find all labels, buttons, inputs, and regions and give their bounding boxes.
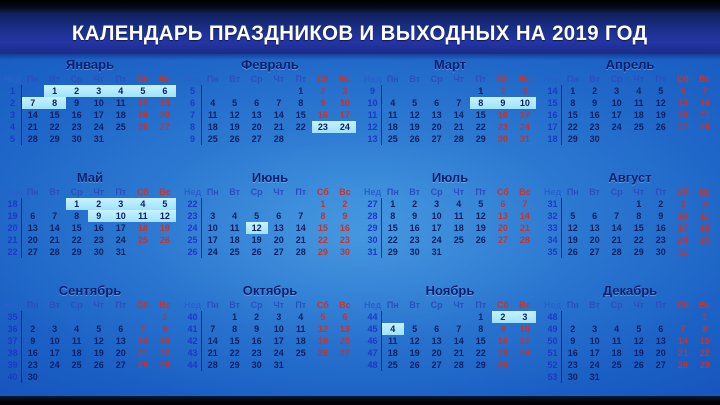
day-cell[interactable]: 14 — [290, 222, 312, 234]
day-cell[interactable]: 6 — [584, 210, 606, 222]
day-cell[interactable]: 12 — [404, 335, 426, 347]
day-cell[interactable]: 19 — [562, 234, 584, 246]
day-cell[interactable]: 6 — [246, 97, 268, 109]
day-cell[interactable]: 27 — [154, 121, 176, 133]
day-cell[interactable]: 21 — [44, 234, 66, 246]
day-cell[interactable]: 27 — [672, 121, 694, 133]
day-cell[interactable]: 26 — [312, 347, 334, 359]
day-cell[interactable]: 30 — [334, 246, 356, 258]
day-cell[interactable]: 29 — [44, 133, 66, 145]
day-cell[interactable]: 25 — [132, 234, 154, 246]
day-cell[interactable]: 10 — [426, 210, 448, 222]
day-cell[interactable]: 3 — [426, 198, 448, 210]
day-cell[interactable]: 21 — [132, 347, 154, 359]
day-cell[interactable]: 2 — [584, 85, 606, 97]
day-cell[interactable]: 28 — [202, 359, 224, 371]
day-cell[interactable]: 14 — [694, 97, 716, 109]
day-cell[interactable]: 4 — [694, 198, 716, 210]
day-cell[interactable]: 19 — [132, 109, 154, 121]
day-cell[interactable]: 19 — [246, 234, 268, 246]
day-cell[interactable]: 24 — [672, 234, 694, 246]
day-cell[interactable]: 20 — [246, 121, 268, 133]
day-cell[interactable]: 11 — [382, 335, 404, 347]
day-cell[interactable]: 27 — [426, 359, 448, 371]
day-cell[interactable]: 13 — [246, 109, 268, 121]
day-cell[interactable]: 12 — [88, 335, 110, 347]
day-cell[interactable]: 7 — [514, 198, 536, 210]
day-cell[interactable]: 21 — [672, 347, 694, 359]
day-cell[interactable]: 10 — [606, 97, 628, 109]
day-cell[interactable]: 22 — [224, 347, 246, 359]
day-cell[interactable]: 15 — [312, 222, 334, 234]
day-cell[interactable]: 29 — [312, 246, 334, 258]
day-cell[interactable]: 2 — [334, 198, 356, 210]
day-cell[interactable]: 28 — [268, 133, 290, 145]
day-cell[interactable]: 12 — [404, 109, 426, 121]
day-cell[interactable]: 30 — [492, 133, 514, 145]
day-cell[interactable]: 31 — [672, 246, 694, 258]
day-cell[interactable]: 11 — [202, 109, 224, 121]
day-cell[interactable]: 15 — [44, 109, 66, 121]
day-cell[interactable]: 18 — [382, 347, 404, 359]
day-cell[interactable]: 18 — [202, 121, 224, 133]
day-cell[interactable]: 28 — [132, 359, 154, 371]
day-cell[interactable]: 17 — [202, 234, 224, 246]
day-cell[interactable]: 1 — [312, 198, 334, 210]
day-cell[interactable]: 22 — [44, 121, 66, 133]
day-cell[interactable]: 11 — [290, 323, 312, 335]
day-cell[interactable]: 24 — [110, 234, 132, 246]
day-cell-holiday[interactable]: 12 — [246, 222, 268, 234]
day-cell[interactable]: 17 — [514, 109, 536, 121]
day-cell[interactable]: 17 — [672, 222, 694, 234]
day-cell[interactable]: 20 — [672, 109, 694, 121]
day-cell[interactable]: 18 — [132, 222, 154, 234]
day-cell[interactable]: 18 — [694, 222, 716, 234]
day-cell[interactable]: 13 — [492, 210, 514, 222]
day-cell[interactable]: 30 — [562, 371, 584, 383]
day-cell[interactable]: 11 — [694, 210, 716, 222]
day-cell[interactable]: 7 — [132, 323, 154, 335]
day-cell[interactable]: 5 — [224, 97, 246, 109]
day-cell[interactable]: 1 — [628, 198, 650, 210]
day-cell[interactable]: 7 — [44, 210, 66, 222]
day-cell[interactable]: 8 — [562, 97, 584, 109]
day-cell[interactable]: 11 — [66, 335, 88, 347]
day-cell[interactable]: 8 — [66, 210, 88, 222]
day-cell-holiday[interactable]: 9 — [492, 97, 514, 109]
day-cell[interactable]: 12 — [470, 210, 492, 222]
day-cell[interactable]: 29 — [66, 246, 88, 258]
day-cell[interactable]: 18 — [606, 347, 628, 359]
day-cell[interactable]: 11 — [448, 210, 470, 222]
day-cell[interactable]: 1 — [562, 85, 584, 97]
day-cell[interactable]: 4 — [382, 97, 404, 109]
day-cell[interactable]: 10 — [44, 335, 66, 347]
day-cell[interactable]: 25 — [606, 359, 628, 371]
day-cell[interactable]: 18 — [628, 109, 650, 121]
day-cell[interactable]: 1 — [382, 198, 404, 210]
day-cell[interactable]: 29 — [470, 133, 492, 145]
day-cell-holiday[interactable]: 4 — [110, 85, 132, 97]
day-cell[interactable]: 9 — [334, 210, 356, 222]
day-cell[interactable]: 27 — [246, 133, 268, 145]
day-cell[interactable]: 4 — [448, 198, 470, 210]
day-cell[interactable]: 16 — [88, 222, 110, 234]
day-cell[interactable]: 22 — [694, 347, 716, 359]
day-cell[interactable]: 5 — [88, 323, 110, 335]
day-cell[interactable]: 3 — [606, 85, 628, 97]
day-cell[interactable]: 10 — [334, 97, 356, 109]
day-cell[interactable]: 15 — [66, 222, 88, 234]
day-cell[interactable]: 8 — [470, 323, 492, 335]
day-cell[interactable]: 23 — [246, 347, 268, 359]
day-cell[interactable]: 14 — [672, 335, 694, 347]
day-cell[interactable]: 5 — [404, 97, 426, 109]
day-cell[interactable]: 7 — [290, 210, 312, 222]
day-cell[interactable]: 13 — [426, 335, 448, 347]
day-cell[interactable]: 4 — [290, 311, 312, 323]
day-cell[interactable]: 18 — [224, 234, 246, 246]
day-cell[interactable]: 17 — [606, 109, 628, 121]
day-cell[interactable]: 27 — [110, 359, 132, 371]
day-cell[interactable]: 19 — [154, 222, 176, 234]
day-cell[interactable]: 3 — [584, 323, 606, 335]
day-cell[interactable]: 9 — [404, 210, 426, 222]
day-cell[interactable]: 4 — [606, 323, 628, 335]
day-cell[interactable]: 17 — [44, 347, 66, 359]
day-cell[interactable]: 9 — [562, 335, 584, 347]
day-cell[interactable]: 4 — [628, 85, 650, 97]
day-cell[interactable]: 29 — [562, 133, 584, 145]
day-cell[interactable]: 20 — [268, 234, 290, 246]
day-cell[interactable]: 20 — [334, 335, 356, 347]
day-cell[interactable]: 17 — [426, 222, 448, 234]
day-cell[interactable]: 30 — [584, 133, 606, 145]
day-cell[interactable]: 27 — [492, 234, 514, 246]
day-cell[interactable]: 7 — [448, 323, 470, 335]
day-cell[interactable]: 28 — [514, 234, 536, 246]
day-cell[interactable]: 31 — [268, 359, 290, 371]
day-cell[interactable]: 14 — [44, 222, 66, 234]
day-cell-holiday[interactable]: 3 — [88, 85, 110, 97]
day-cell[interactable]: 27 — [426, 133, 448, 145]
day-cell[interactable]: 13 — [22, 222, 44, 234]
day-cell[interactable]: 22 — [66, 234, 88, 246]
day-cell[interactable]: 1 — [694, 311, 716, 323]
day-cell[interactable]: 26 — [224, 133, 246, 145]
day-cell[interactable]: 25 — [202, 133, 224, 145]
day-cell[interactable]: 26 — [88, 359, 110, 371]
day-cell[interactable]: 23 — [492, 347, 514, 359]
day-cell[interactable]: 1 — [154, 311, 176, 323]
day-cell[interactable]: 30 — [404, 246, 426, 258]
day-cell[interactable]: 28 — [694, 121, 716, 133]
day-cell[interactable]: 11 — [628, 97, 650, 109]
day-cell[interactable]: 7 — [202, 323, 224, 335]
day-cell-holiday[interactable]: 23 — [312, 121, 334, 133]
day-cell[interactable]: 16 — [492, 335, 514, 347]
day-cell[interactable]: 24 — [268, 347, 290, 359]
day-cell[interactable]: 20 — [22, 234, 44, 246]
day-cell[interactable]: 19 — [404, 347, 426, 359]
day-cell[interactable]: 23 — [404, 234, 426, 246]
day-cell-holiday[interactable]: 6 — [154, 85, 176, 97]
day-cell[interactable]: 21 — [448, 121, 470, 133]
day-cell-holiday[interactable]: 5 — [132, 85, 154, 97]
day-cell-holiday[interactable]: 12 — [154, 210, 176, 222]
day-cell[interactable]: 20 — [110, 347, 132, 359]
day-cell[interactable]: 23 — [334, 234, 356, 246]
day-cell[interactable]: 27 — [584, 246, 606, 258]
day-cell-holiday[interactable]: 4 — [382, 323, 404, 335]
day-cell[interactable]: 6 — [110, 323, 132, 335]
day-cell[interactable]: 9 — [312, 97, 334, 109]
day-cell[interactable]: 1 — [470, 85, 492, 97]
day-cell[interactable]: 28 — [448, 133, 470, 145]
day-cell[interactable]: 23 — [650, 234, 672, 246]
day-cell[interactable]: 16 — [312, 109, 334, 121]
day-cell[interactable]: 11 — [382, 109, 404, 121]
day-cell[interactable]: 20 — [154, 109, 176, 121]
day-cell[interactable]: 5 — [562, 210, 584, 222]
day-cell[interactable]: 15 — [224, 335, 246, 347]
day-cell[interactable]: 3 — [202, 210, 224, 222]
day-cell[interactable]: 9 — [66, 97, 88, 109]
day-cell[interactable]: 17 — [110, 222, 132, 234]
day-cell[interactable]: 30 — [22, 371, 44, 383]
day-cell[interactable]: 23 — [492, 121, 514, 133]
day-cell[interactable]: 8 — [694, 323, 716, 335]
day-cell[interactable]: 2 — [492, 85, 514, 97]
day-cell[interactable]: 18 — [382, 121, 404, 133]
day-cell[interactable]: 21 — [448, 347, 470, 359]
day-cell[interactable]: 18 — [110, 109, 132, 121]
day-cell[interactable]: 24 — [606, 121, 628, 133]
day-cell[interactable]: 26 — [562, 246, 584, 258]
day-cell[interactable]: 9 — [246, 323, 268, 335]
day-cell[interactable]: 29 — [694, 359, 716, 371]
day-cell[interactable]: 18 — [448, 222, 470, 234]
day-cell[interactable]: 25 — [66, 359, 88, 371]
day-cell[interactable]: 17 — [268, 335, 290, 347]
day-cell[interactable]: 14 — [268, 109, 290, 121]
day-cell[interactable]: 8 — [290, 97, 312, 109]
day-cell[interactable]: 6 — [268, 210, 290, 222]
day-cell-holiday[interactable]: 7 — [22, 97, 44, 109]
day-cell[interactable]: 27 — [268, 246, 290, 258]
day-cell[interactable]: 14 — [132, 335, 154, 347]
day-cell[interactable]: 1 — [470, 311, 492, 323]
day-cell[interactable]: 30 — [246, 359, 268, 371]
day-cell[interactable]: 2 — [650, 198, 672, 210]
day-cell[interactable]: 15 — [562, 109, 584, 121]
day-cell[interactable]: 12 — [224, 109, 246, 121]
day-cell[interactable]: 20 — [426, 121, 448, 133]
day-cell[interactable]: 30 — [66, 133, 88, 145]
day-cell[interactable]: 2 — [404, 198, 426, 210]
day-cell[interactable]: 22 — [312, 234, 334, 246]
day-cell-holiday[interactable]: 1 — [66, 198, 88, 210]
day-cell[interactable]: 1 — [224, 311, 246, 323]
day-cell[interactable]: 6 — [492, 198, 514, 210]
day-cell[interactable]: 27 — [334, 347, 356, 359]
day-cell[interactable]: 28 — [672, 359, 694, 371]
day-cell[interactable]: 18 — [66, 347, 88, 359]
day-cell[interactable]: 22 — [154, 347, 176, 359]
day-cell[interactable]: 17 — [88, 109, 110, 121]
day-cell[interactable]: 19 — [88, 347, 110, 359]
day-cell[interactable]: 23 — [66, 121, 88, 133]
day-cell[interactable]: 29 — [470, 359, 492, 371]
day-cell[interactable]: 12 — [650, 97, 672, 109]
day-cell[interactable]: 4 — [66, 323, 88, 335]
day-cell[interactable]: 10 — [268, 323, 290, 335]
day-cell[interactable]: 16 — [562, 347, 584, 359]
day-cell[interactable]: 25 — [290, 347, 312, 359]
day-cell[interactable]: 8 — [312, 210, 334, 222]
day-cell[interactable]: 26 — [404, 133, 426, 145]
day-cell[interactable]: 3 — [672, 198, 694, 210]
day-cell[interactable]: 7 — [694, 85, 716, 97]
day-cell-holiday[interactable]: 5 — [154, 198, 176, 210]
day-cell[interactable]: 19 — [312, 335, 334, 347]
day-cell[interactable]: 20 — [650, 347, 672, 359]
day-cell[interactable]: 5 — [628, 323, 650, 335]
day-cell[interactable]: 19 — [470, 222, 492, 234]
day-cell[interactable]: 4 — [224, 210, 246, 222]
day-cell[interactable]: 22 — [470, 347, 492, 359]
day-cell[interactable]: 12 — [628, 335, 650, 347]
day-cell[interactable]: 10 — [584, 335, 606, 347]
day-cell[interactable]: 29 — [628, 246, 650, 258]
day-cell[interactable]: 5 — [246, 210, 268, 222]
day-cell[interactable]: 30 — [650, 246, 672, 258]
day-cell[interactable]: 26 — [154, 234, 176, 246]
day-cell-holiday[interactable]: 11 — [132, 210, 154, 222]
day-cell[interactable]: 25 — [694, 234, 716, 246]
day-cell-holiday[interactable]: 2 — [66, 85, 88, 97]
day-cell[interactable]: 16 — [404, 222, 426, 234]
day-cell[interactable]: 7 — [448, 97, 470, 109]
day-cell[interactable]: 6 — [650, 323, 672, 335]
day-cell[interactable]: 15 — [470, 109, 492, 121]
day-cell[interactable]: 6 — [426, 97, 448, 109]
day-cell[interactable]: 31 — [110, 246, 132, 258]
day-cell[interactable]: 15 — [694, 335, 716, 347]
day-cell[interactable]: 16 — [584, 109, 606, 121]
day-cell[interactable]: 29 — [382, 246, 404, 258]
day-cell[interactable]: 2 — [312, 85, 334, 97]
day-cell[interactable]: 14 — [22, 109, 44, 121]
day-cell[interactable]: 26 — [628, 359, 650, 371]
day-cell[interactable]: 13 — [426, 109, 448, 121]
day-cell[interactable]: 13 — [672, 97, 694, 109]
day-cell[interactable]: 26 — [246, 246, 268, 258]
day-cell[interactable]: 16 — [22, 347, 44, 359]
day-cell[interactable]: 14 — [514, 210, 536, 222]
day-cell[interactable]: 29 — [154, 359, 176, 371]
day-cell[interactable]: 22 — [562, 121, 584, 133]
day-cell[interactable]: 16 — [246, 335, 268, 347]
day-cell[interactable]: 23 — [22, 359, 44, 371]
day-cell-holiday[interactable]: 9 — [88, 210, 110, 222]
day-cell[interactable]: 19 — [224, 121, 246, 133]
day-cell[interactable]: 25 — [382, 133, 404, 145]
day-cell[interactable]: 5 — [404, 323, 426, 335]
day-cell[interactable]: 10 — [514, 323, 536, 335]
day-cell[interactable]: 17 — [584, 347, 606, 359]
day-cell[interactable]: 22 — [382, 234, 404, 246]
day-cell[interactable]: 13 — [584, 222, 606, 234]
day-cell[interactable]: 6 — [22, 210, 44, 222]
day-cell[interactable]: 13 — [334, 323, 356, 335]
day-cell[interactable]: 1 — [290, 85, 312, 97]
day-cell[interactable]: 11 — [224, 222, 246, 234]
day-cell[interactable]: 9 — [650, 210, 672, 222]
day-cell[interactable]: 30 — [88, 246, 110, 258]
day-cell[interactable]: 13 — [110, 335, 132, 347]
day-cell[interactable]: 31 — [88, 133, 110, 145]
day-cell[interactable]: 28 — [44, 246, 66, 258]
day-cell[interactable]: 10 — [88, 97, 110, 109]
day-cell[interactable]: 30 — [492, 359, 514, 371]
day-cell[interactable]: 4 — [202, 97, 224, 109]
day-cell[interactable]: 16 — [650, 222, 672, 234]
day-cell[interactable]: 22 — [290, 121, 312, 133]
day-cell[interactable]: 6 — [426, 323, 448, 335]
day-cell[interactable]: 24 — [514, 121, 536, 133]
day-cell[interactable]: 6 — [334, 311, 356, 323]
day-cell[interactable]: 23 — [88, 234, 110, 246]
day-cell[interactable]: 24 — [426, 234, 448, 246]
day-cell[interactable]: 21 — [514, 222, 536, 234]
day-cell[interactable]: 22 — [628, 234, 650, 246]
day-cell[interactable]: 8 — [154, 323, 176, 335]
day-cell[interactable]: 7 — [268, 97, 290, 109]
day-cell[interactable]: 2 — [246, 311, 268, 323]
day-cell-holiday[interactable]: 10 — [514, 97, 536, 109]
day-cell[interactable]: 3 — [268, 311, 290, 323]
day-cell[interactable]: 25 — [628, 121, 650, 133]
day-cell[interactable]: 2 — [22, 323, 44, 335]
day-cell[interactable]: 25 — [382, 359, 404, 371]
day-cell[interactable]: 12 — [562, 222, 584, 234]
day-cell[interactable]: 21 — [290, 234, 312, 246]
day-cell[interactable]: 8 — [628, 210, 650, 222]
day-cell[interactable]: 21 — [22, 121, 44, 133]
day-cell[interactable]: 13 — [154, 97, 176, 109]
day-cell[interactable]: 5 — [312, 311, 334, 323]
day-cell-holiday[interactable]: 3 — [110, 198, 132, 210]
day-cell[interactable]: 24 — [202, 246, 224, 258]
day-cell[interactable]: 27 — [22, 246, 44, 258]
day-cell[interactable]: 21 — [694, 109, 716, 121]
day-cell[interactable]: 31 — [514, 133, 536, 145]
day-cell[interactable]: 12 — [312, 323, 334, 335]
day-cell[interactable]: 5 — [650, 85, 672, 97]
day-cell[interactable]: 21 — [606, 234, 628, 246]
day-cell-holiday[interactable]: 3 — [514, 311, 536, 323]
day-cell[interactable]: 15 — [470, 335, 492, 347]
day-cell[interactable]: 23 — [562, 359, 584, 371]
day-cell-holiday[interactable]: 4 — [132, 198, 154, 210]
day-cell[interactable]: 31 — [584, 371, 606, 383]
day-cell[interactable]: 15 — [290, 109, 312, 121]
day-cell[interactable]: 12 — [132, 97, 154, 109]
day-cell[interactable]: 15 — [628, 222, 650, 234]
day-cell-holiday[interactable]: 10 — [110, 210, 132, 222]
